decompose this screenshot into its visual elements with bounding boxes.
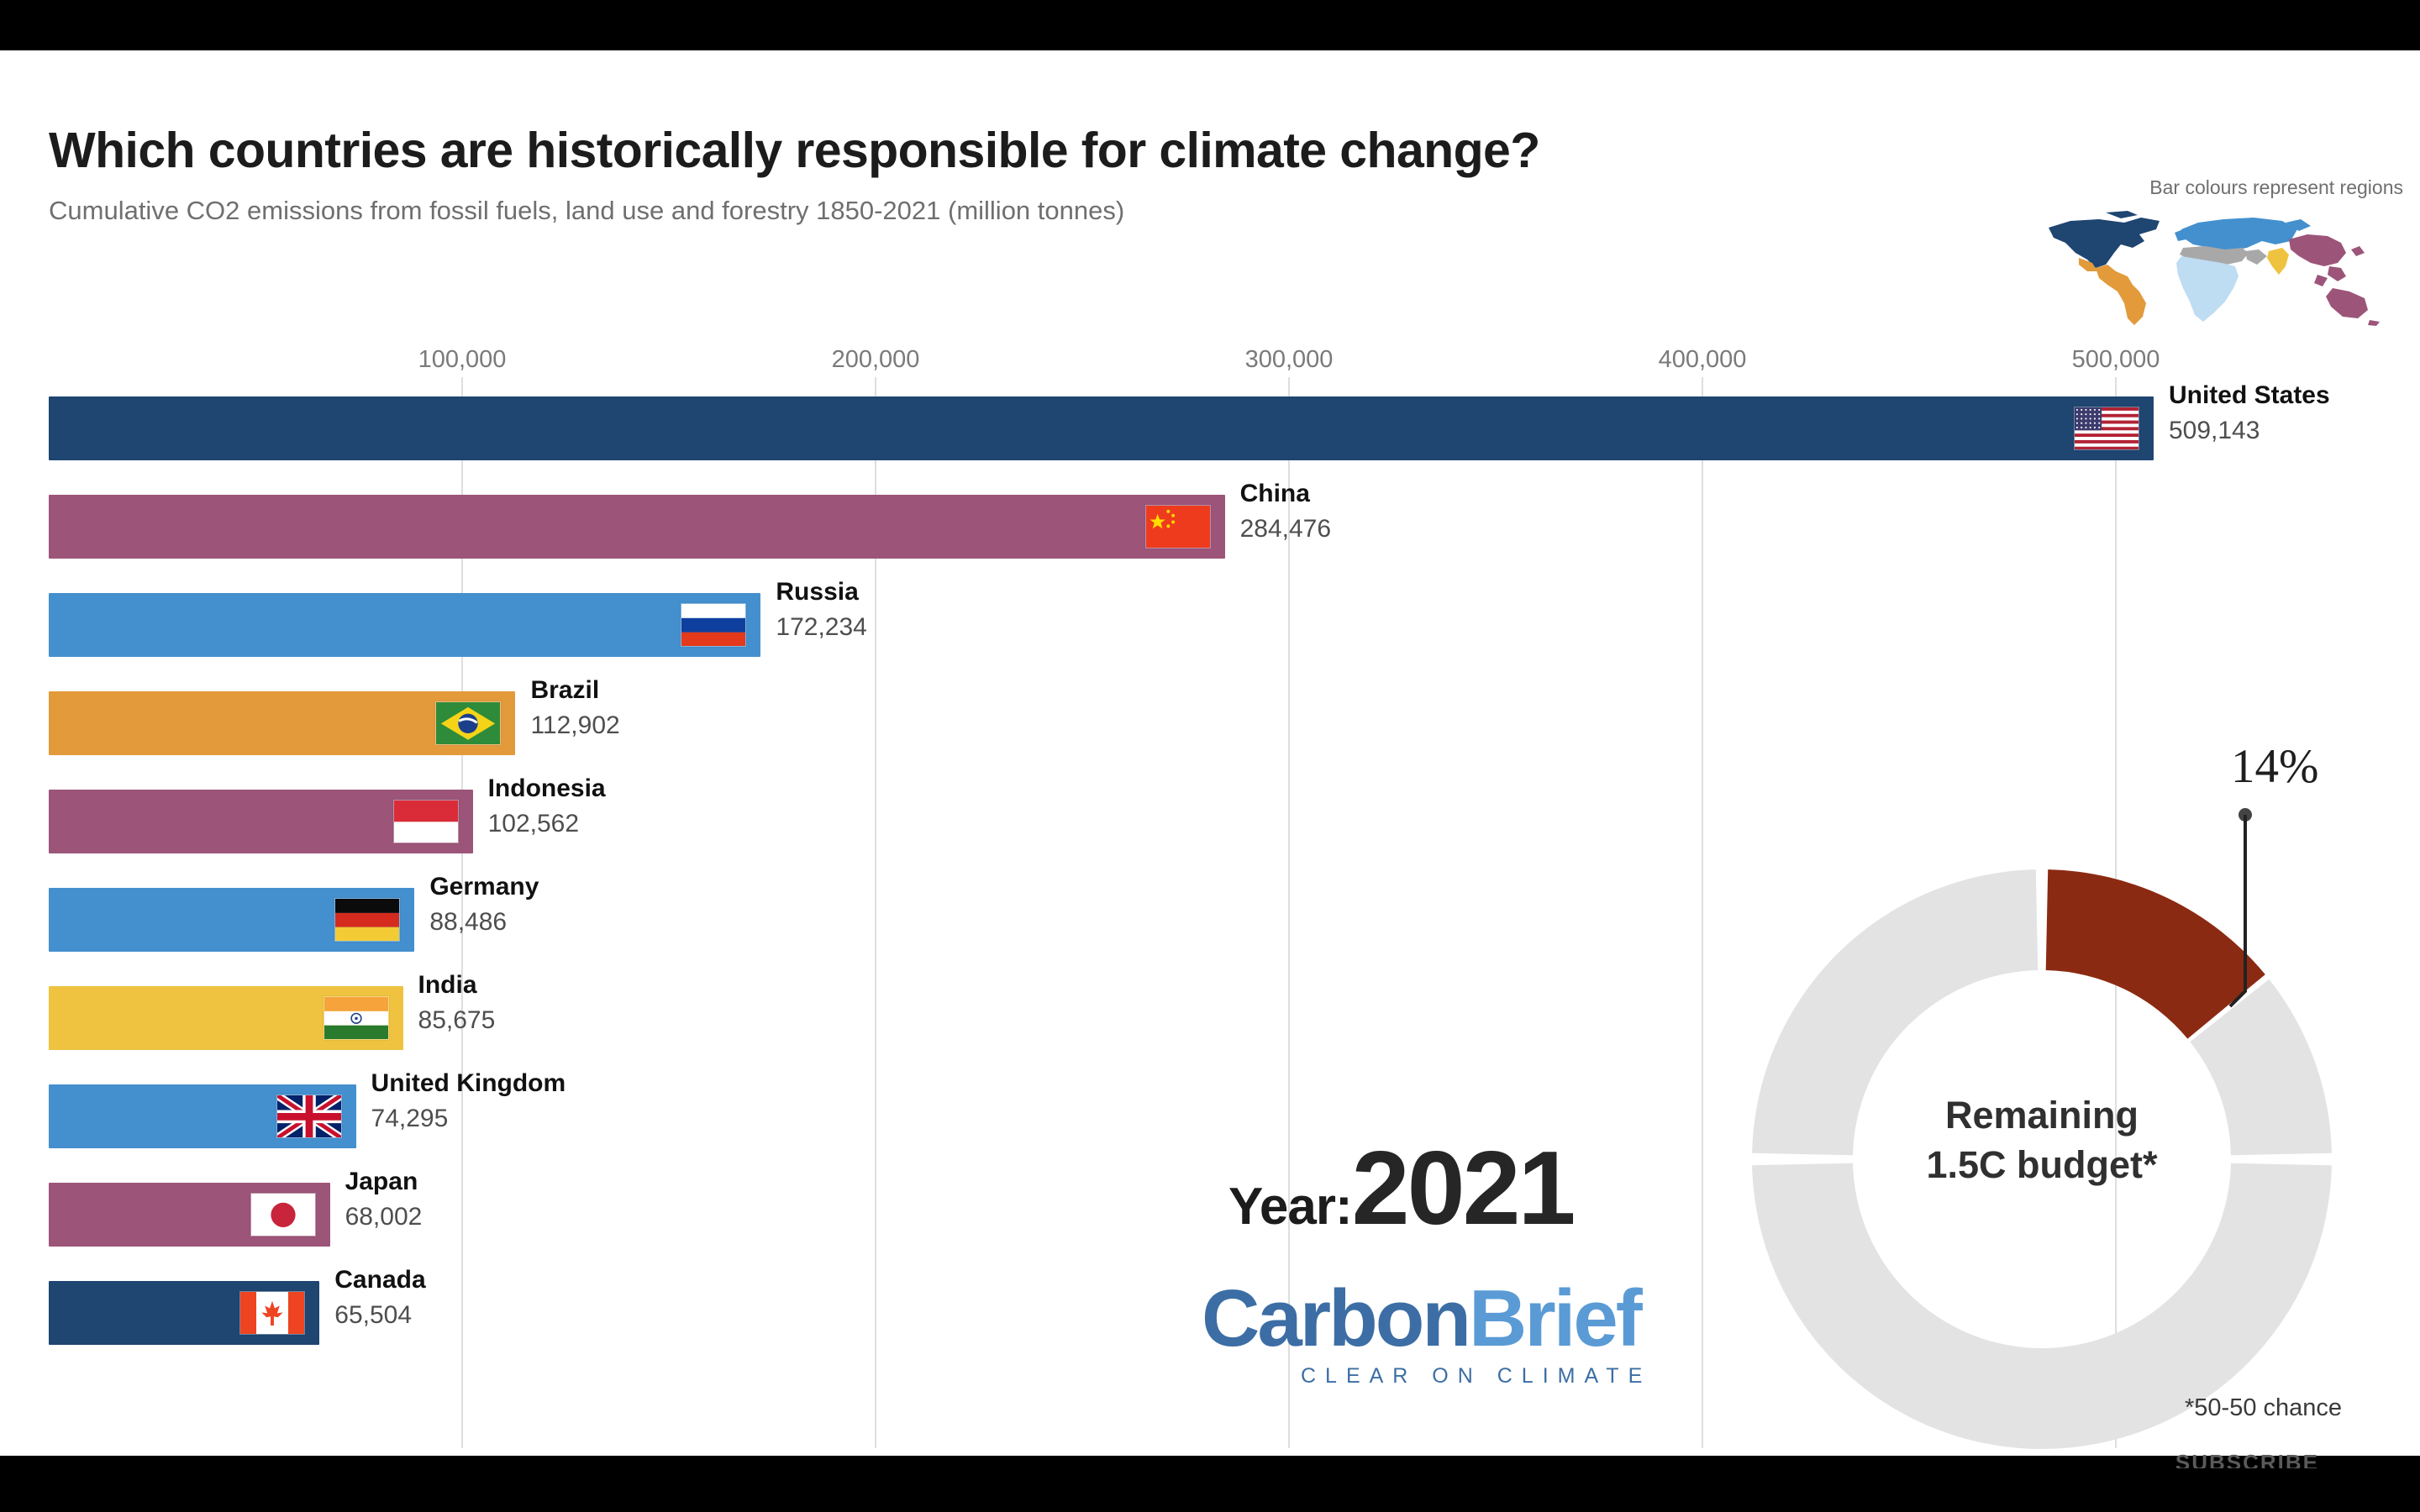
donut-segment-remaining-c bbox=[1752, 869, 2038, 1155]
flag-icon-cn bbox=[1145, 505, 1211, 549]
bar-country-label: India bbox=[418, 971, 477, 1000]
logo-tagline: CLEAR ON CLIMATE bbox=[1301, 1364, 1651, 1389]
bar-us bbox=[49, 396, 2154, 460]
bar-country-label: China bbox=[1240, 480, 1310, 508]
bar-cn bbox=[49, 495, 1225, 559]
bar-value-label: 74,295 bbox=[371, 1105, 449, 1133]
flag-icon-in bbox=[324, 996, 389, 1040]
flag-icon-ca bbox=[239, 1291, 305, 1335]
letterbox-bottom bbox=[0, 1456, 2420, 1512]
flag-icon-de bbox=[334, 898, 400, 942]
letterbox-top bbox=[0, 0, 2420, 50]
carbonbrief-logo: CarbonBrief CLEAR ON CLIMATE bbox=[1202, 1278, 1651, 1389]
bar-value-label: 509,143 bbox=[2169, 417, 2260, 445]
chart-frame: Which countries are historically respons… bbox=[0, 50, 2420, 1456]
bar-country-label: Brazil bbox=[530, 676, 599, 705]
bar-value-label: 172,234 bbox=[776, 613, 866, 642]
x-axis-tick-label: 400,000 bbox=[1659, 346, 1747, 374]
flag-icon-ru bbox=[681, 603, 746, 647]
flag-icon-br bbox=[435, 701, 501, 745]
year-label: Year: bbox=[1228, 1177, 1352, 1236]
percent-callout-line bbox=[2151, 798, 2370, 1050]
flag-icon-gb bbox=[276, 1095, 342, 1138]
bar-country-label: United States bbox=[2169, 381, 2330, 410]
flag-icon-jp bbox=[250, 1193, 316, 1236]
x-axis-tick-label: 200,000 bbox=[832, 346, 920, 374]
bar-ru bbox=[49, 593, 760, 657]
bar-value-label: 68,002 bbox=[345, 1203, 423, 1231]
year-display: Year: 2021 bbox=[1228, 1142, 1574, 1236]
bar-country-label: Japan bbox=[345, 1168, 418, 1196]
percent-used-label: 14% bbox=[2231, 739, 2318, 794]
flag-icon-us bbox=[2074, 407, 2139, 450]
year-value: 2021 bbox=[1352, 1142, 1574, 1236]
bar-value-label: 112,902 bbox=[530, 711, 619, 740]
bar-value-label: 284,476 bbox=[1240, 515, 1331, 543]
bar-country-label: Germany bbox=[429, 873, 539, 901]
bar-country-label: Indonesia bbox=[488, 774, 606, 803]
logo-word-carbon: Carbon bbox=[1202, 1273, 1469, 1363]
flag-icon-id bbox=[393, 800, 459, 843]
bar-value-label: 88,486 bbox=[429, 908, 507, 937]
x-axis-tick-label: 100,000 bbox=[418, 346, 507, 374]
bar-country-label: Russia bbox=[776, 578, 858, 606]
donut-footnote: *50-50 chance bbox=[2185, 1394, 2342, 1422]
x-axis-tick-label: 500,000 bbox=[2072, 346, 2160, 374]
x-axis-tick-label: 300,000 bbox=[1245, 346, 1334, 374]
bar-country-label: United Kingdom bbox=[371, 1069, 566, 1098]
bar-value-label: 65,504 bbox=[334, 1301, 412, 1330]
bar-value-label: 102,562 bbox=[488, 810, 579, 838]
gridline bbox=[1702, 377, 1703, 1448]
subscribe-ghost-text: SUBSCRIBE bbox=[2175, 1450, 2319, 1468]
logo-word-brief: Brief bbox=[1469, 1273, 1640, 1363]
bar-value-label: 85,675 bbox=[418, 1006, 496, 1035]
bar-country-label: Canada bbox=[334, 1266, 425, 1294]
video-stage: Which countries are historically respons… bbox=[0, 0, 2420, 1512]
